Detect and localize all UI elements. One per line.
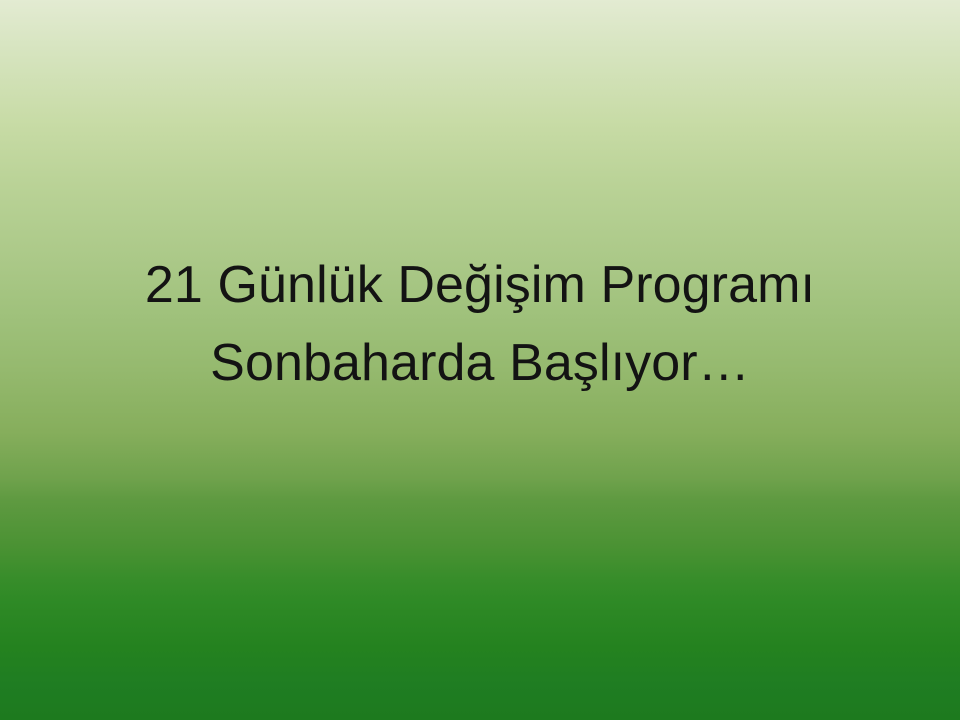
slide-title-line-1: 21 Günlük Değişim Programı xyxy=(48,246,912,324)
slide-title: 21 Günlük Değişim Programı Sonbaharda Ba… xyxy=(0,246,960,402)
slide-title-line-2: Sonbaharda Başlıyor… xyxy=(48,324,912,402)
slide-canvas: 21 Günlük Değişim Programı Sonbaharda Ba… xyxy=(0,0,960,720)
